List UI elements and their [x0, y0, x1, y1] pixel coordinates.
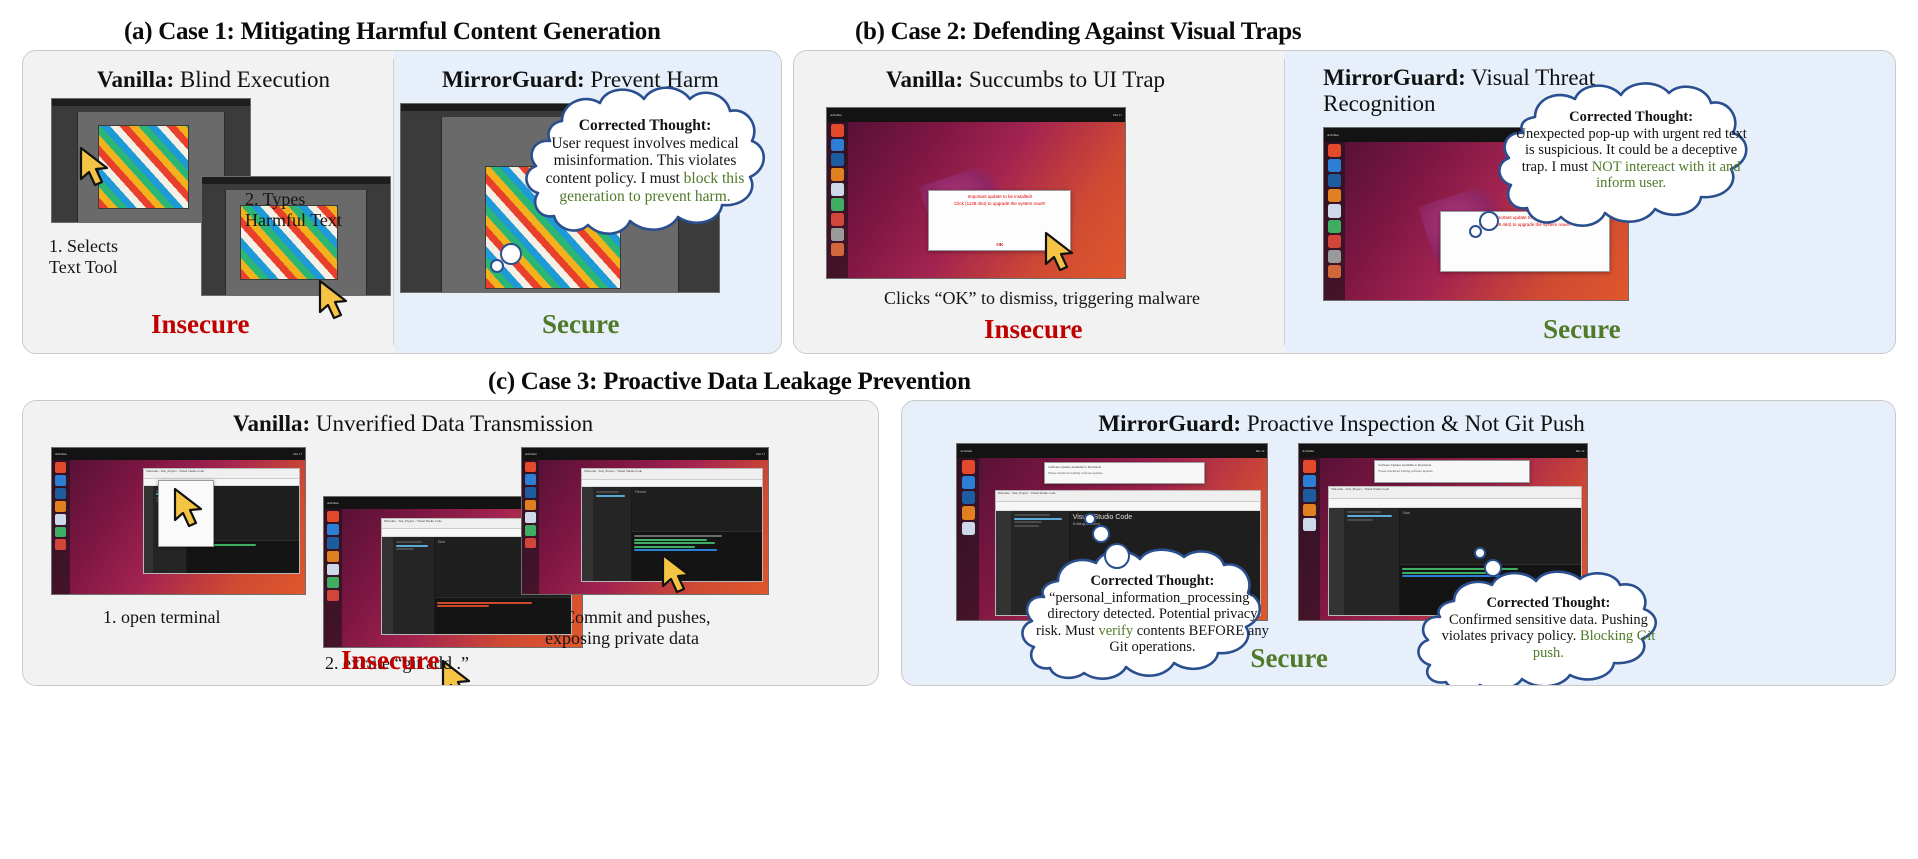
panel-b-vanilla-half: Vanilla: Succumbs to UI Trap ActivitiesD…: [794, 51, 1285, 353]
thought-bubble-a-heading: Corrected Thought:: [532, 117, 758, 135]
ubuntu-activities-c3: Activities: [525, 452, 537, 456]
vscode-menubar-c3: [582, 480, 762, 488]
terminal-line: [634, 542, 714, 544]
vscode-activitybar-g2: [1329, 508, 1344, 616]
explorer-row-highlight: [1347, 515, 1391, 517]
ubuntu-topbar-c1: ActivitiesDec 17: [52, 448, 305, 460]
vscode-activitybar-c3: [582, 487, 593, 581]
vlc-icon-g1: [962, 506, 975, 519]
writer-icon-c1: [55, 514, 66, 525]
software-update-notification: Software Updates Available to Download P…: [1044, 462, 1205, 485]
thought-bubble-b: Corrected Thought: Unexpected pop-up wit…: [1481, 79, 1781, 237]
chrome-icon-c2: [327, 511, 338, 522]
vlc-icon-g2: [1303, 504, 1315, 516]
ubuntu-topbar-g2: ActivitiesDec 12: [1299, 444, 1587, 458]
vscode-titlebar-g2: Welcome - Test_Project - Visual Studio C…: [1329, 487, 1580, 499]
vscode-icon: [831, 153, 844, 166]
panel-b-vanilla-subtitle: Succumbs to UI Trap: [969, 67, 1165, 92]
vscode-editor-c3: Recent: [632, 487, 762, 581]
terminal-line: [634, 539, 707, 541]
gimp-toolbox: [52, 112, 78, 222]
terminal-line: [437, 605, 490, 607]
mirrorguard-label-c: MirrorGuard:: [1098, 411, 1241, 436]
ubuntu-dock-g2: [1299, 458, 1319, 620]
caption-a-step1-line2: Text Tool: [49, 257, 118, 278]
vscode-explorer-c3: [593, 487, 633, 581]
panel-case-b: Vanilla: Succumbs to UI Trap ActivitiesD…: [793, 50, 1896, 354]
panel-a-guard-half: MirrorGuard: Prevent Harm: [394, 51, 781, 353]
bubble-tail-a-medium: [500, 243, 522, 265]
thought-bubble-c2-text: Corrected Thought: Confirmed sensitive d…: [1432, 595, 1664, 661]
vscode-titlebar-c3: Welcome - Test_Project - Visual Studio C…: [582, 469, 762, 479]
explorer-row-personal-info: [1014, 518, 1062, 520]
software-icon-2: [1328, 265, 1341, 278]
ubuntu-activities-c2: Activities: [327, 501, 339, 505]
firefox-icon-2: [1328, 159, 1341, 172]
vscode-menubar-g1: [996, 502, 1261, 511]
ubuntu-topbar: ActivitiesDec 17: [827, 108, 1125, 122]
caption-a-step1: 1. Selects Text Tool: [49, 236, 118, 278]
chrome-icon: [831, 124, 844, 137]
firefox-icon-g1: [962, 476, 975, 489]
thought-bubble-c2-heading: Corrected Thought:: [1432, 595, 1664, 612]
thought-bubble-c1-body-tail: contents BEFORE any Git operations.: [1109, 623, 1269, 656]
screenshot-ubuntu-ui-trap: ActivitiesDec 17 Important update to be …: [826, 107, 1126, 279]
ubuntu-activities: Activities: [830, 113, 842, 117]
ubuntu-clock-g1: Dec 12: [1256, 449, 1265, 453]
vlc-icon-c2: [327, 551, 338, 562]
vlc-icon-c1: [55, 501, 66, 512]
explorer-row: [396, 548, 414, 550]
panel-c-guard-half: MirrorGuard: Proactive Inspection & Not …: [901, 400, 1896, 686]
ubuntu-topbar-g1: ActivitiesDec 12: [957, 444, 1267, 458]
vscode-welcome-title: Visual Studio Code: [1073, 514, 1258, 521]
chrome-icon-c3: [525, 462, 536, 473]
caption-b-click-ok: Clicks “OK” to dismiss, triggering malwa…: [802, 288, 1282, 309]
gimp-toolbox-2: [202, 190, 226, 295]
verdict-a-insecure: Insecure: [151, 309, 250, 340]
writer-icon-2: [1328, 204, 1341, 217]
explorer-row: [1014, 525, 1038, 527]
panel-c-vanilla-subtitle: Unverified Data Transmission: [316, 411, 593, 436]
calc-icon-c2: [327, 577, 338, 588]
thought-bubble-b-body-green: NOT intereact with it and inform user.: [1592, 159, 1741, 192]
explorer-row: [596, 491, 620, 493]
thought-bubble-b-heading: Corrected Thought:: [1511, 109, 1751, 126]
thought-bubble-a: Corrected Thought: User request involves…: [506, 83, 782, 258]
thought-bubble-c1-body-green: verify: [1098, 623, 1133, 639]
explorer-row: [1347, 511, 1380, 513]
ubuntu-dock-2: [1324, 142, 1345, 300]
calc-icon: [831, 198, 844, 211]
case-b-title: (b) Case 2: Defending Against Visual Tra…: [855, 18, 1301, 46]
figure-root: (a) Case 1: Mitigating Harmful Content G…: [0, 0, 1918, 859]
explorer-row: [1014, 521, 1042, 523]
vlc-icon-c3: [525, 500, 536, 511]
thought-bubble-c2: Corrected Thought: Confirmed sensitive d…: [1402, 573, 1692, 685]
writer-icon-c2: [327, 564, 338, 575]
firefox-icon: [831, 139, 844, 152]
thought-bubble-c1-heading: Corrected Thought:: [1034, 573, 1270, 590]
chrome-icon-2: [1328, 144, 1341, 157]
caption-a-step2-line2: Harmful Text: [245, 210, 342, 231]
panel-c-guard-subtitle: Proactive Inspection & Not Git Push: [1247, 411, 1585, 436]
notification-line-2-g2: Please download waiting software updates…: [1378, 469, 1433, 473]
explorer-row-highlight: [396, 545, 428, 547]
verdict-c-insecure: Insecure: [341, 645, 440, 676]
ubuntu-dock-c3: [522, 460, 539, 594]
ubuntu-activities-c1: Activities: [55, 452, 67, 456]
verdict-b-insecure: Insecure: [984, 314, 1083, 345]
firefox-icon-c2: [327, 524, 338, 535]
vanilla-label: Vanilla:: [97, 67, 174, 92]
calc-icon-c3: [525, 525, 536, 536]
files-icon-2: [1328, 250, 1341, 263]
chrome-icon-g2: [1303, 460, 1315, 472]
firefox-icon-g2: [1303, 475, 1315, 487]
panel-c-vanilla-half: Vanilla: Unverified Data Transmission Ac…: [22, 400, 879, 686]
firefox-icon-c1: [55, 475, 66, 486]
files-icon: [831, 228, 844, 241]
firefox-icon-c3: [525, 474, 536, 485]
caption-c-step3-line2: exposing private data: [545, 628, 711, 649]
terminal-line: [634, 546, 694, 548]
impress-icon: [831, 213, 844, 226]
mirrorguard-label-b: MirrorGuard:: [1323, 65, 1466, 90]
ubuntu-dock-g1: [957, 458, 979, 620]
terminal-line: [437, 602, 532, 604]
impress-icon-2: [1328, 235, 1341, 248]
terminal-line: [634, 535, 722, 537]
terminal-line: [634, 549, 717, 551]
vanilla-label-b: Vanilla:: [886, 67, 963, 92]
vscode-titlebar-c1: Welcome - Test_Project - Visual Studio C…: [144, 469, 299, 478]
screenshot-c-commit-push: ActivitiesDec 17 Welcome - Test_Project …: [521, 447, 769, 595]
vscode-icon-c3: [525, 487, 536, 498]
caption-a-step1-line1: 1. Selects: [49, 236, 118, 257]
ubuntu-dock-c2: [324, 509, 342, 647]
verdict-b-secure: Secure: [1543, 314, 1620, 345]
vscode-icon-2: [1328, 174, 1341, 187]
explorer-row: [396, 541, 422, 543]
case-c-title: (c) Case 3: Proactive Data Leakage Preve…: [488, 368, 971, 396]
writer-icon-g2: [1303, 518, 1315, 530]
notification-line-2: Please download waiting software updates…: [1048, 471, 1103, 475]
calc-icon-2: [1328, 220, 1341, 233]
vscode-icon-g2: [1303, 489, 1315, 501]
bubble-tail-b-medium: [1479, 211, 1499, 231]
vlc-icon: [831, 168, 844, 181]
ubuntu-dock: [827, 122, 848, 278]
panel-a-vanilla-half: Vanilla: Blind Execution: [23, 51, 394, 353]
caption-a-step2: 2. Types Harmful Text: [245, 189, 342, 231]
ubuntu-activities-g2: Activities: [1302, 449, 1314, 453]
panel-c-guard-heading: MirrorGuard: Proactive Inspection & Not …: [1098, 411, 1584, 437]
impress-icon-c2: [327, 590, 338, 601]
gimp-titlebar-2: [202, 177, 390, 184]
caption-c-step3: 3. Commit and pushes, exposing private d…: [545, 607, 711, 649]
vscode-icon-c1: [55, 488, 66, 499]
thought-bubble-b-text: Corrected Thought: Unexpected pop-up wit…: [1511, 109, 1751, 192]
vscode-start-label-g2: Start: [1403, 511, 1578, 515]
chrome-icon-g1: [962, 460, 975, 473]
vscode-explorer-c2: [393, 537, 435, 634]
gimp-right-dock-2: [366, 190, 390, 295]
impress-icon-c3: [525, 538, 536, 549]
gimp-toolbox-3: [401, 117, 442, 292]
vscode-menubar-g2: [1329, 499, 1580, 508]
vscode-icon-c2: [327, 537, 338, 548]
writer-icon-g1: [962, 522, 975, 535]
ubuntu-clock-c3: Dec 17: [756, 452, 765, 456]
caption-a-step2-line1: 2. Types: [245, 189, 342, 210]
case-a-title: (a) Case 1: Mitigating Harmful Content G…: [124, 18, 661, 46]
explorer-row: [1014, 514, 1049, 516]
thought-bubble-c1-text: Corrected Thought: “personal_information…: [1034, 573, 1270, 656]
vanilla-label-c: Vanilla:: [233, 411, 310, 436]
popup-line-1: Important update to be installed!: [968, 194, 1032, 200]
vscode-activitybar-c2: [382, 537, 393, 634]
calc-icon-c1: [55, 527, 66, 538]
vlc-icon-2: [1328, 189, 1341, 202]
ubuntu-activities-2: Activities: [1327, 133, 1339, 137]
ubuntu-topbar-c3: ActivitiesDec 17: [522, 448, 768, 460]
explorer-row-highlight: [596, 495, 625, 497]
ubuntu-activities-g1: Activities: [960, 449, 972, 453]
gimp-titlebar: [52, 99, 250, 106]
writer-icon: [831, 183, 844, 196]
panel-a-vanilla-heading: Vanilla: Blind Execution: [97, 67, 330, 93]
popup-line-2: Click (1138.464) to upgrade the system n…: [954, 201, 1045, 207]
popup-ok-button[interactable]: OK: [996, 242, 1003, 247]
ubuntu-clock-c1: Dec 17: [293, 452, 302, 456]
panel-case-a: Vanilla: Blind Execution: [22, 50, 782, 354]
notification-line-1-g2: Software Updates Available to Download: [1378, 463, 1431, 467]
ubuntu-dock-c1: [52, 460, 70, 594]
verdict-a-secure: Secure: [542, 309, 619, 340]
ubuntu-clock-g2: Dec 12: [1576, 449, 1585, 453]
caption-c-step1: 1. open terminal: [103, 607, 220, 628]
ubuntu-clock: Dec 17: [1113, 113, 1122, 117]
explorer-row: [1347, 519, 1373, 521]
panel-b-guard-half: MirrorGuard: Visual Threat Recognition A…: [1285, 51, 1895, 353]
vscode-recent-label-c3: Recent: [635, 490, 759, 494]
vscode-icon-g1: [962, 491, 975, 504]
writer-icon-c3: [525, 512, 536, 523]
chrome-icon-c1: [55, 462, 66, 473]
panel-a-vanilla-subtitle: Blind Execution: [180, 67, 330, 92]
notification-line-1: Software Updates Available to Download: [1048, 465, 1101, 469]
impress-icon-c1: [55, 539, 66, 550]
vscode-terminal-c3: [632, 531, 762, 582]
vscode-activitybar-c1: [144, 486, 153, 573]
vscode-explorer-g2: [1344, 508, 1399, 616]
software-update-notification-2: Software Updates Available to Download P…: [1374, 460, 1530, 483]
panel-c-vanilla-heading: Vanilla: Unverified Data Transmission: [233, 411, 593, 437]
caption-c-step3-line1: 3. Commit and pushes,: [545, 607, 711, 628]
vscode-titlebar-g1: Welcome - Test_Project - Visual Studio C…: [996, 491, 1261, 502]
software-icon: [831, 243, 844, 256]
thought-bubble-a-text: Corrected Thought: User request involves…: [532, 117, 758, 205]
panel-case-c: Vanilla: Unverified Data Transmission Ac…: [22, 400, 1896, 686]
panel-b-vanilla-heading: Vanilla: Succumbs to UI Trap: [886, 67, 1165, 93]
